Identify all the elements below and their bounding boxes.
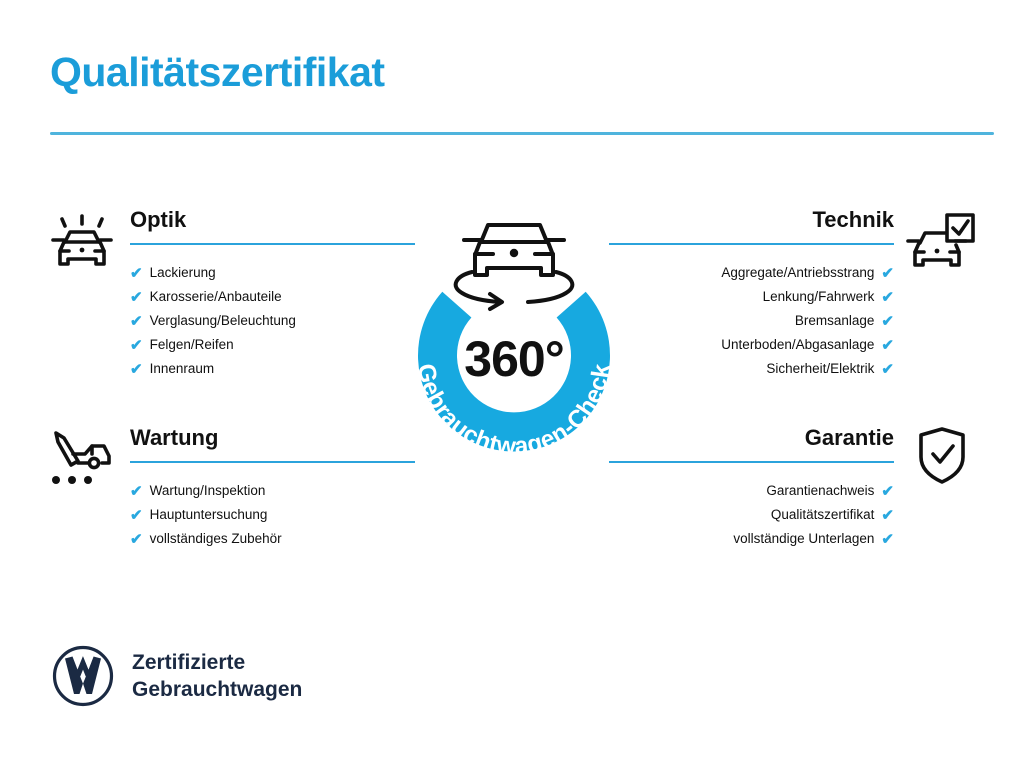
check-icon: ✔ (130, 338, 143, 353)
section-wartung-head: Wartung (130, 423, 415, 469)
check-icon: ✔ (881, 338, 894, 353)
list-item: ✔ Karosserie/Anbauteile (130, 285, 415, 309)
list-item-label: vollständige Unterlagen (733, 527, 874, 551)
section-garantie-list: Garantienachweis ✔ Qualitätszertifikat ✔… (609, 479, 894, 551)
check-icon: ✔ (130, 266, 143, 281)
section-technik: Technik Aggregate/Antriebsstrang ✔ Lenku… (609, 205, 979, 381)
section-garantie: Garantie Garantienachweis ✔ Qualitätszer… (609, 423, 979, 551)
footer-line-2: Gebrauchtwagen (132, 676, 302, 703)
section-wartung-title: Wartung (130, 423, 415, 453)
list-item: ✔ Lackierung (130, 261, 415, 285)
vw-logo (52, 645, 114, 707)
check-icon: ✔ (881, 266, 894, 281)
list-item: ✔ Innenraum (130, 357, 415, 381)
list-item-label: Lackierung (150, 261, 216, 285)
car-checkbox-icon (905, 209, 979, 275)
title-divider (50, 132, 994, 135)
check-icon: ✔ (881, 532, 894, 547)
check-icon: ✔ (130, 484, 143, 499)
list-item: ✔ Verglasung/Beleuchtung (130, 309, 415, 333)
list-item-label: Hauptuntersuchung (150, 503, 268, 527)
list-item: Qualitätszertifikat ✔ (609, 503, 894, 527)
list-item-label: Innenraum (150, 357, 215, 381)
footer-lockup: Zertifizierte Gebrauchtwagen (52, 645, 302, 707)
section-wartung-body: Wartung ✔ Wartung/Inspektion ✔ Hauptunte… (130, 423, 415, 551)
section-optik-title: Optik (130, 205, 415, 235)
list-item: ✔ Felgen/Reifen (130, 333, 415, 357)
column-right: Technik Aggregate/Antriebsstrang ✔ Lenku… (609, 205, 979, 551)
page-title: Qualitätszertifikat (50, 50, 385, 95)
car-service-icon (45, 425, 119, 491)
check-icon: ✔ (130, 314, 143, 329)
list-item: ✔ Wartung/Inspektion (130, 479, 415, 503)
section-optik-underline (130, 243, 415, 245)
section-wartung: Wartung ✔ Wartung/Inspektion ✔ Hauptunte… (45, 423, 415, 551)
section-wartung-list: ✔ Wartung/Inspektion ✔ Hauptuntersuchung… (130, 479, 415, 551)
check-icon: ✔ (130, 362, 143, 377)
check-icon: ✔ (881, 290, 894, 305)
list-item-label: Felgen/Reifen (150, 333, 234, 357)
list-item-label: Wartung/Inspektion (150, 479, 266, 503)
list-item-label: Unterboden/Abgasanlage (721, 333, 874, 357)
check-icon: ✔ (881, 484, 894, 499)
list-item-label: vollständiges Zubehör (150, 527, 282, 551)
section-wartung-underline (130, 461, 415, 463)
badge-center-label: 360° (464, 331, 563, 387)
list-item: ✔ Hauptuntersuchung (130, 503, 415, 527)
list-item: vollständige Unterlagen ✔ (609, 527, 894, 551)
list-item-label: Lenkung/Fahrwerk (763, 285, 875, 309)
certificate-page: Qualitätszertifikat (0, 0, 1024, 768)
list-item-label: Qualitätszertifikat (771, 503, 875, 527)
shield-check-icon (905, 423, 979, 489)
footer-text: Zertifizierte Gebrauchtwagen (132, 649, 302, 703)
check-icon: ✔ (881, 362, 894, 377)
footer-line-1: Zertifizierte (132, 649, 302, 676)
section-optik-body: Optik ✔ Lackierung ✔ Karosserie/Anbautei… (130, 205, 415, 381)
badge-360-check: Gebrauchtwagen-Check 360° (376, 196, 652, 486)
column-left: Optik ✔ Lackierung ✔ Karosserie/Anbautei… (45, 205, 415, 551)
list-item: ✔ vollständiges Zubehör (130, 527, 415, 551)
check-icon: ✔ (881, 508, 894, 523)
list-item-label: Bremsanlage (795, 309, 875, 333)
check-icon: ✔ (130, 508, 143, 523)
check-icon: ✔ (130, 290, 143, 305)
list-item-label: Garantienachweis (766, 479, 874, 503)
list-item-label: Karosserie/Anbauteile (150, 285, 282, 309)
list-item-label: Aggregate/Antriebsstrang (721, 261, 874, 285)
section-optik-head: Optik (130, 205, 415, 251)
car-rotation-icon (456, 225, 573, 309)
list-item-label: Verglasung/Beleuchtung (150, 309, 296, 333)
section-optik-list: ✔ Lackierung ✔ Karosserie/Anbauteile ✔ V… (130, 261, 415, 381)
list-item-label: Sicherheit/Elektrik (766, 357, 874, 381)
check-icon: ✔ (881, 314, 894, 329)
car-polish-icon (45, 209, 119, 275)
check-icon: ✔ (130, 532, 143, 547)
section-optik: Optik ✔ Lackierung ✔ Karosserie/Anbautei… (45, 205, 415, 381)
